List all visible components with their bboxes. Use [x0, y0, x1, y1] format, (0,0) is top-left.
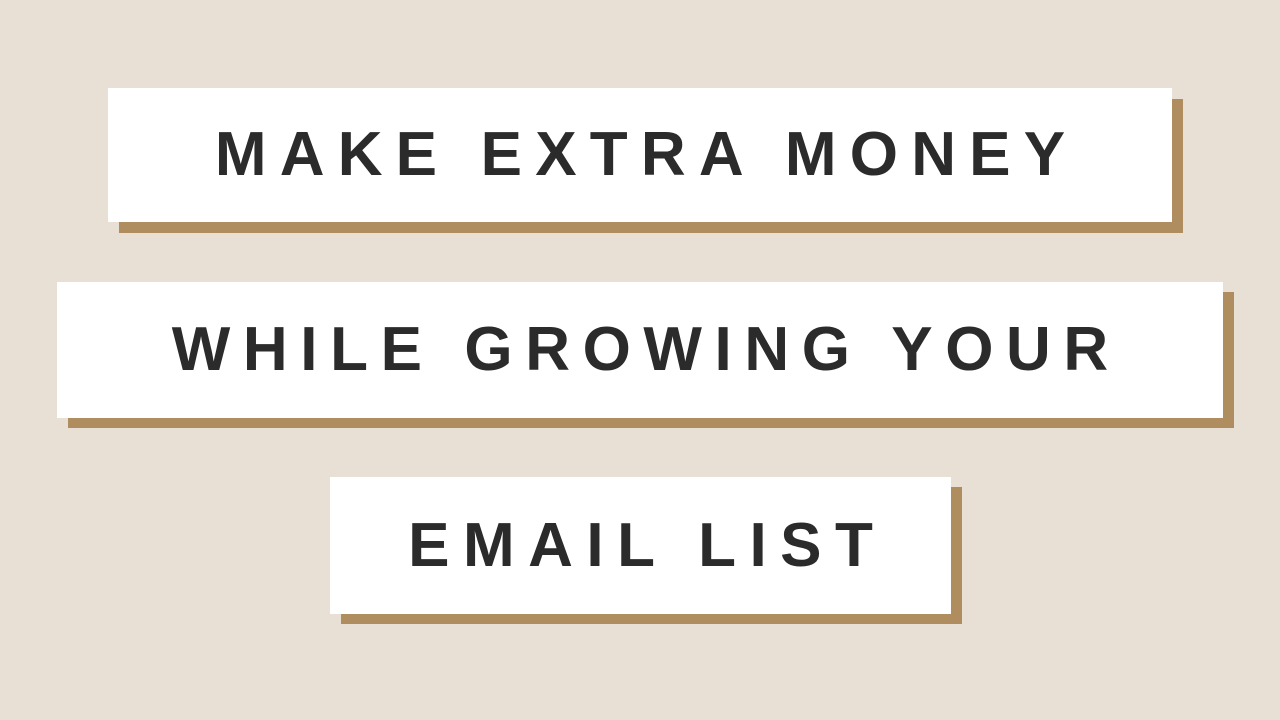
banner-plate-2: WHILE GROWING YOUR	[57, 282, 1223, 418]
banner-plate-3: EMAIL LIST	[330, 477, 951, 614]
headline-banner-1: MAKE EXTRA MONEY	[119, 99, 1183, 233]
headline-line-3: EMAIL LIST	[395, 515, 887, 577]
headline-banner-2: WHILE GROWING YOUR	[68, 292, 1234, 428]
headline-line-2: WHILE GROWING YOUR	[159, 319, 1121, 381]
headline-line-1: MAKE EXTRA MONEY	[202, 124, 1079, 186]
slide-canvas: MAKE EXTRA MONEY WHILE GROWING YOUR EMAI…	[0, 0, 1280, 720]
banner-plate-1: MAKE EXTRA MONEY	[108, 88, 1172, 222]
headline-banner-3: EMAIL LIST	[341, 487, 962, 624]
